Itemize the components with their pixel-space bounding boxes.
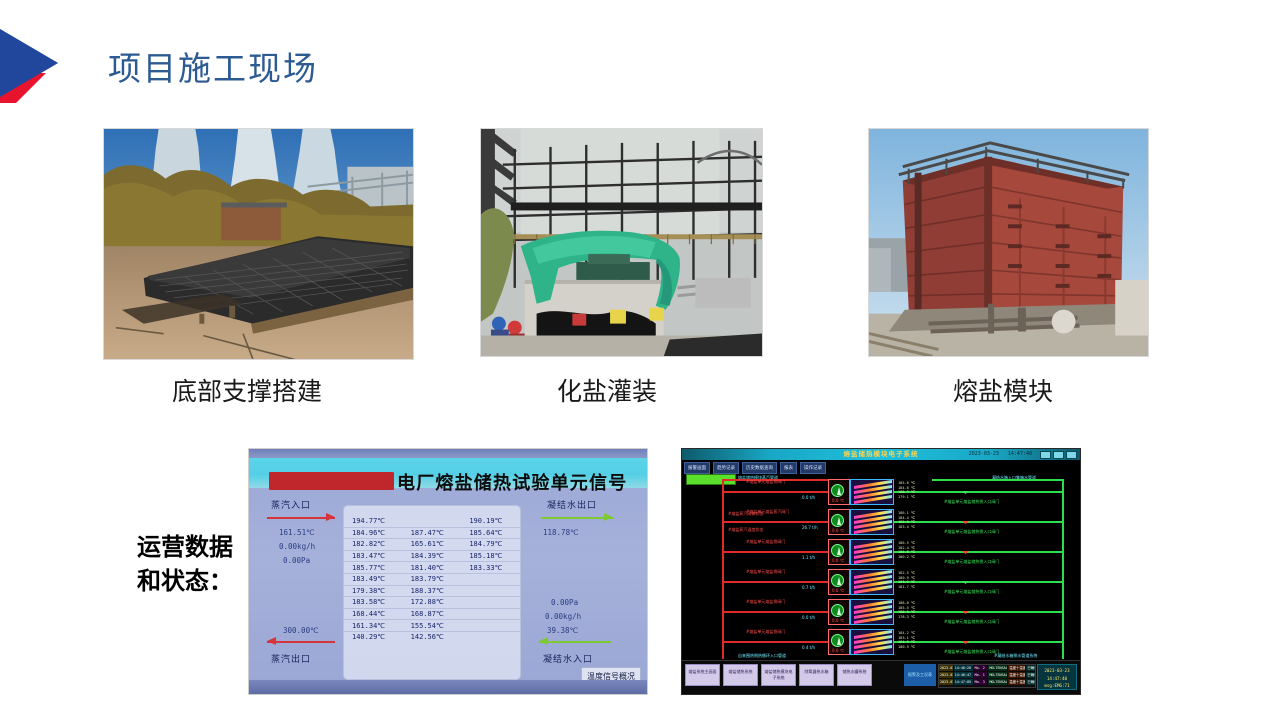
- module-valve-icon[interactable]: [831, 484, 844, 497]
- alarm-cell: 2023-03-23: [939, 679, 953, 685]
- temperature-cell: 184.39℃: [403, 550, 462, 562]
- module-right-tag: #熔盐单元熔盐储热侧入口阀门: [944, 649, 999, 655]
- alarm-cell: MOLTENSALT002: [988, 672, 1007, 678]
- steam-inlet-temp: 161.51℃: [279, 528, 315, 537]
- temperature-cell: [461, 631, 520, 642]
- temperature-cell: 181.40℃: [403, 562, 462, 574]
- temperature-table-row: 183.49℃183.79℃: [344, 573, 520, 585]
- temperature-table-row: 185.77℃181.40℃183.33℃: [344, 562, 520, 574]
- module-right-tag: #熔盐单元熔盐储热侧入口阀门: [944, 529, 999, 535]
- module-outlet-pipe: [894, 491, 1064, 493]
- window-controls[interactable]: [1040, 451, 1077, 459]
- temperature-cell: 155.54℃: [403, 620, 462, 632]
- close-icon[interactable]: [1066, 451, 1077, 459]
- temperature-cell: 190.19℃: [461, 516, 520, 527]
- steam-inlet-arrow-icon: [267, 516, 335, 519]
- operation-data-label-line2: 和状态：: [100, 564, 270, 598]
- operation-data-label: 运营数据 和状态：: [100, 530, 270, 598]
- temperature-cell: [461, 608, 520, 620]
- module-right-tag: #熔盐单元熔盐储热侧入口阀门: [944, 589, 999, 595]
- module-inlet-pipe: [722, 491, 828, 493]
- temperature-cell: 172.88℃: [403, 597, 462, 609]
- photo-salt-filling: [480, 128, 763, 357]
- heat-exchanger-block: [850, 599, 894, 625]
- module-valve-icon[interactable]: [831, 514, 844, 527]
- module-readout: 188.0 ℃185.5 ℃186.9 ℃178.3 ℃: [898, 601, 915, 619]
- hmi-top-strip: [249, 449, 647, 458]
- heat-exchanger-block: [850, 539, 894, 565]
- module-temp-value: 0.0 ℃: [832, 588, 844, 593]
- temperature-cell: 179.38℃: [344, 585, 403, 597]
- photo-caption-1: 底部支撑搭建: [172, 372, 322, 408]
- module-temp-value: 0.0 ℃: [832, 558, 844, 563]
- steam-inlet-label: 蒸汽入口: [271, 498, 311, 511]
- module-readout: 186.1 ℃184.4 ℃185.0 ℃183.4 ℃: [898, 511, 915, 529]
- temperature-cell: 184.96℃: [344, 527, 403, 539]
- module-valve-label: #熔盐单元熔盐侧阀门: [746, 479, 785, 485]
- alarm-cell: MOLTENSALT003: [988, 679, 1007, 685]
- steam-outlet-label: 蒸汽出口: [271, 652, 311, 665]
- alarm-row[interactable]: 2023-03-2314:46:20 报警Mo. 2 号 Ps 0MOLTENS…: [939, 665, 1035, 672]
- tag-bottom-left: 自来围热侧热循环入口管道: [738, 653, 786, 659]
- temperature-cell: 188.37℃: [403, 585, 462, 597]
- alarm-cell: 温度十温度报警: [1008, 672, 1025, 678]
- module-row-5: #熔盐单元熔盐侧阀门 0.0 t/h 0.0 ℃ 188.0 ℃185.5 ℃1…: [682, 597, 1081, 627]
- module-inlet-pipe: [722, 611, 828, 613]
- temperature-table-row: 183.58℃172.88℃: [344, 597, 520, 609]
- alarm-cell: MOLTENSALT001: [988, 665, 1007, 671]
- condensate-inlet-label: 凝结水入口: [543, 652, 593, 665]
- temperature-cell: 168.44℃: [344, 608, 403, 620]
- module-valve-label: #熔盐单元熔盐蒸汽阀门: [746, 509, 789, 515]
- alarm-row[interactable]: 2023-03-2314:47:05 报警Mo. 3 号 Ps 0MOLTENS…: [939, 679, 1035, 686]
- temperature-cell: 168.87℃: [403, 608, 462, 620]
- scada-titlebar-date: 2023-03-23: [969, 451, 999, 457]
- module-temp-value: 0.0 ℃: [832, 648, 844, 653]
- alarm-cell: 已确认: [1026, 679, 1035, 685]
- temperature-table-row: 161.34℃155.54℃: [344, 620, 520, 632]
- steam-outlet-temp: 300.00℃: [283, 626, 319, 635]
- heat-exchanger-block: [850, 479, 894, 505]
- module-row-1: #熔盐单元熔盐侧阀门 0.0 t/h 0.0 ℃ 185.6 ℃184.0 ℃1…: [682, 477, 1081, 507]
- scada-clock-msg: msg:EMG:71: [1038, 682, 1076, 690]
- blue-red-arrow-logo: [0, 27, 62, 103]
- module-state-marker: [962, 489, 969, 496]
- module-flow-value: 0.4 t/h: [802, 645, 815, 650]
- alarm-table[interactable]: 2023-03-2314:46:20 报警Mo. 2 号 Ps 0MOLTENS…: [938, 664, 1036, 688]
- scada-footer-button-3[interactable]: 除氧器热水箱: [799, 664, 834, 686]
- module-valve-label: #熔盐单元熔盐侧阀门: [746, 569, 785, 575]
- module-valve-label: #熔盐单元熔盐侧阀门: [746, 539, 785, 545]
- module-state-marker: [962, 579, 969, 586]
- condensate-outlet-temp: 118.78℃: [543, 528, 579, 537]
- module-state-marker: [962, 639, 969, 646]
- heat-exchanger-block: [850, 629, 894, 655]
- module-right-tag: #熔盐单元熔盐储热侧入口阀门: [944, 499, 999, 505]
- module-valve-icon[interactable]: [831, 544, 844, 557]
- heat-exchanger-block: [850, 569, 894, 595]
- photo-caption-3: 熔盐模块: [953, 372, 1053, 408]
- module-temp-value: 0.0 ℃: [832, 528, 844, 533]
- temperature-cell: 194.77℃: [344, 516, 403, 527]
- photo-bottom-support: [103, 128, 414, 360]
- module-readout: 185.6 ℃184.0 ℃186.3 ℃179.1 ℃: [898, 481, 915, 499]
- module-inlet-pipe: [722, 581, 828, 583]
- alarm-cell: 14:46:20 报警: [954, 665, 973, 671]
- maximize-icon[interactable]: [1053, 451, 1064, 459]
- temperature-cell: 161.34℃: [344, 620, 403, 632]
- temperature-cell: 165.61℃: [403, 539, 462, 551]
- temperature-cell: [461, 620, 520, 632]
- module-state-marker: [962, 609, 969, 616]
- slide-root: 项目施工现场: [0, 0, 1280, 720]
- hmi-body: 蒸汽入口 161.51℃ 0.00kg/h 0.00Pa 凝结水出口 118.7…: [249, 488, 647, 694]
- module-inlet-pipe: [722, 521, 828, 523]
- tag-bottom-right: #凝结水箱侧水管道系统: [994, 653, 1037, 659]
- scada-footer-button-0[interactable]: 熔盐系统主画面: [685, 664, 720, 686]
- heat-exchanger-block: [850, 509, 894, 535]
- alarm-cell: 2023-03-23: [939, 672, 953, 678]
- temperature-cell: 183.79℃: [403, 573, 462, 585]
- module-temp-value: 0.0 ℃: [832, 498, 844, 503]
- temperature-table-body: 194.77℃190.19℃184.96℃187.47℃185.64℃182.8…: [344, 516, 520, 643]
- module-right-tag: #熔盐单元熔盐储热侧入口阀门: [944, 619, 999, 625]
- temperature-cell: [403, 516, 462, 527]
- module-row-2: #熔盐单元熔盐蒸汽阀门 26.7 t/h 0.0 ℃ 186.1 ℃184.4 …: [682, 507, 1081, 537]
- module-state-marker: [962, 519, 969, 526]
- condensate-inlet-pressure: 0.00Pa: [551, 598, 578, 607]
- module-right-tag: #熔盐单元熔盐储热侧入口阀门: [944, 559, 999, 565]
- module-flow-value: 1.1 t/h: [802, 555, 815, 560]
- temperature-cell: 187.47℃: [403, 527, 462, 539]
- condensate-inlet-flow: 0.00kg/h: [545, 612, 581, 621]
- module-valve-icon[interactable]: [831, 574, 844, 587]
- alarm-cell: 14:47:05 报警: [954, 679, 973, 685]
- module-state-marker: [962, 549, 969, 556]
- operation-data-label-line1: 运营数据: [137, 532, 233, 561]
- scada-footer-buttons[interactable]: 熔盐系统主画面熔盐储热系统熔盐储热模块电子系统除氧器热水箱储热水罐系统: [685, 664, 872, 686]
- photo-row: [0, 128, 1280, 368]
- temperature-table-row: 168.44℃168.87℃: [344, 608, 520, 620]
- temperature-table-row: 179.38℃188.37℃: [344, 585, 520, 597]
- temperature-cell: 142.56℃: [403, 631, 462, 642]
- module-valve-label: #熔盐单元熔盐侧阀门: [746, 629, 785, 635]
- scada-titlebar-time: 14:47:40: [1008, 451, 1032, 457]
- alarm-cell: 温度十温度报警: [1008, 679, 1025, 685]
- alarm-row[interactable]: 2023-03-2314:46:47 报警Mo. 1 号 Ps 0MOLTENS…: [939, 672, 1035, 679]
- alarm-cell: 已确认: [1026, 672, 1035, 678]
- module-inlet-pipe: [722, 641, 828, 643]
- module-outlet-pipe: [894, 551, 1064, 553]
- scada-clock-time: 14:47:40: [1038, 675, 1076, 683]
- hmi-screen-photo: 电厂熔盐储热试验单元信号 蒸汽入口 161.51℃ 0.00kg/h 0.00P…: [248, 448, 648, 695]
- module-flow-value: 0.0 t/h: [802, 495, 815, 500]
- scada-clock-date: 2023-03-23: [1038, 667, 1076, 675]
- alarm-cell: 14:46:47 报警: [954, 672, 973, 678]
- temperature-cell: 185.77℃: [344, 562, 403, 574]
- temperature-table: 194.77℃190.19℃184.96℃187.47℃185.64℃182.8…: [343, 505, 521, 680]
- module-outlet-pipe: [894, 581, 1064, 583]
- photo-molten-salt-module: [868, 128, 1149, 357]
- module-row-3: #熔盐单元熔盐侧阀门 1.1 t/h 0.0 ℃ 186.5 ℃182.4 ℃1…: [682, 537, 1081, 567]
- temperature-cell: 183.58℃: [344, 597, 403, 609]
- temperature-table-row: 183.47℃184.39℃185.18℃: [344, 550, 520, 562]
- alarm-cell: Mo. 1 号 Ps 0: [974, 672, 988, 678]
- module-flow-value: 26.7 t/h: [802, 525, 818, 530]
- photo-caption-2: 化盐灌装: [557, 372, 657, 408]
- module-row-4: #熔盐单元熔盐侧阀门 0.7 t/h 0.0 ℃ 182.5 ℃180.9 ℃1…: [682, 567, 1081, 597]
- temperature-table-grid: 194.77℃190.19℃184.96℃187.47℃185.64℃182.8…: [344, 516, 520, 643]
- temperature-cell: 183.49℃: [344, 573, 403, 585]
- hmi-title-bar: 电厂熔盐储热试验单元信号: [249, 458, 647, 488]
- module-readout: 182.5 ℃180.9 ℃183.3 ℃181.7 ℃: [898, 571, 915, 589]
- module-outlet-pipe: [894, 641, 1064, 643]
- temperature-cell: 184.79℃: [461, 539, 520, 551]
- condensate-outlet-arrow-icon: [541, 516, 613, 519]
- minimize-icon[interactable]: [1040, 451, 1051, 459]
- scada-footer: 熔盐系统主画面熔盐储热系统熔盐储热模块电子系统除氧器热水箱储热水罐系统 报警及工…: [682, 660, 1080, 694]
- alarm-cell: 温度十温度报警: [1008, 665, 1025, 671]
- condensate-inlet-temp: 39.38℃: [547, 626, 578, 635]
- steam-inlet-pressure: 0.00Pa: [283, 556, 310, 565]
- alarm-cell: Mo. 3 号 Ps 0: [974, 679, 988, 685]
- module-temp-value: 0.0 ℃: [832, 618, 844, 623]
- module-outlet-pipe: [894, 521, 1064, 523]
- temperature-table-row: 194.77℃190.19℃: [344, 516, 520, 527]
- scada-footer-button-1[interactable]: 熔盐储热系统: [723, 664, 758, 686]
- temperature-cell: 185.18℃: [461, 550, 520, 562]
- condensate-inlet-arrow-icon: [539, 640, 611, 643]
- temperature-cell: [461, 585, 520, 597]
- scada-mimic-canvas: 熔盐储热模块蒸汽管道 #熔盐蒸汽阀体状态 #熔盐蒸汽温度状态 凝结水箱入口集箱水…: [682, 471, 1080, 660]
- module-valve-icon[interactable]: [831, 604, 844, 617]
- temperature-table-row: 182.82℃165.61℃184.79℃: [344, 539, 520, 551]
- steam-outlet-arrow-icon: [267, 640, 335, 643]
- alarm-table-header: 报警及工况表: [904, 664, 936, 686]
- temperature-table-row: 184.96℃187.47℃185.64℃: [344, 527, 520, 539]
- module-valve-icon[interactable]: [831, 634, 844, 647]
- module-readout: 184.2 ℃183.1 ℃184.9 ℃180.5 ℃: [898, 631, 915, 649]
- module-outlet-pipe: [894, 611, 1064, 613]
- page-title: 项目施工现场: [108, 42, 318, 90]
- module-inlet-pipe: [722, 551, 828, 553]
- scada-footer-button-2[interactable]: 熔盐储热模块电子系统: [761, 664, 796, 686]
- alarm-cell: Mo. 2 号 Ps 0: [974, 665, 988, 671]
- scada-clock-box: 2023-03-23 14:47:40 msg:EMG:71: [1037, 664, 1077, 690]
- temperature-cell: 183.47℃: [344, 550, 403, 562]
- scada-screen-photo: 熔盐储热模块电子系统 2023-03-23 14:47:40 报警画面趋势记录历…: [681, 448, 1081, 695]
- steam-inlet-flow: 0.00kg/h: [279, 542, 315, 551]
- module-flow-value: 0.0 t/h: [802, 615, 815, 620]
- alarm-cell: 已确认: [1026, 665, 1035, 671]
- temperature-cell: 185.64℃: [461, 527, 520, 539]
- scada-titlebar-clock: 2023-03-23 14:47:40: [969, 449, 1032, 460]
- temperature-cell: [461, 597, 520, 609]
- condensate-outlet-label: 凝结水出口: [547, 498, 597, 511]
- temperature-cell: 183.33℃: [461, 562, 520, 574]
- hmi-bottom-bar: [249, 680, 647, 694]
- module-valve-label: #熔盐单元熔盐侧阀门: [746, 599, 785, 605]
- temperature-cell: 140.29℃: [344, 631, 403, 642]
- scada-footer-button-4[interactable]: 储热水罐系统: [837, 664, 872, 686]
- temperature-cell: [461, 573, 520, 585]
- module-readout: 186.5 ℃182.4 ℃184.8 ℃180.2 ℃: [898, 541, 915, 559]
- temperature-table-row: 140.29℃142.56℃: [344, 631, 520, 642]
- temperature-cell: 182.82℃: [344, 539, 403, 551]
- alarm-cell: 2023-03-23: [939, 665, 953, 671]
- module-flow-value: 0.7 t/h: [802, 585, 815, 590]
